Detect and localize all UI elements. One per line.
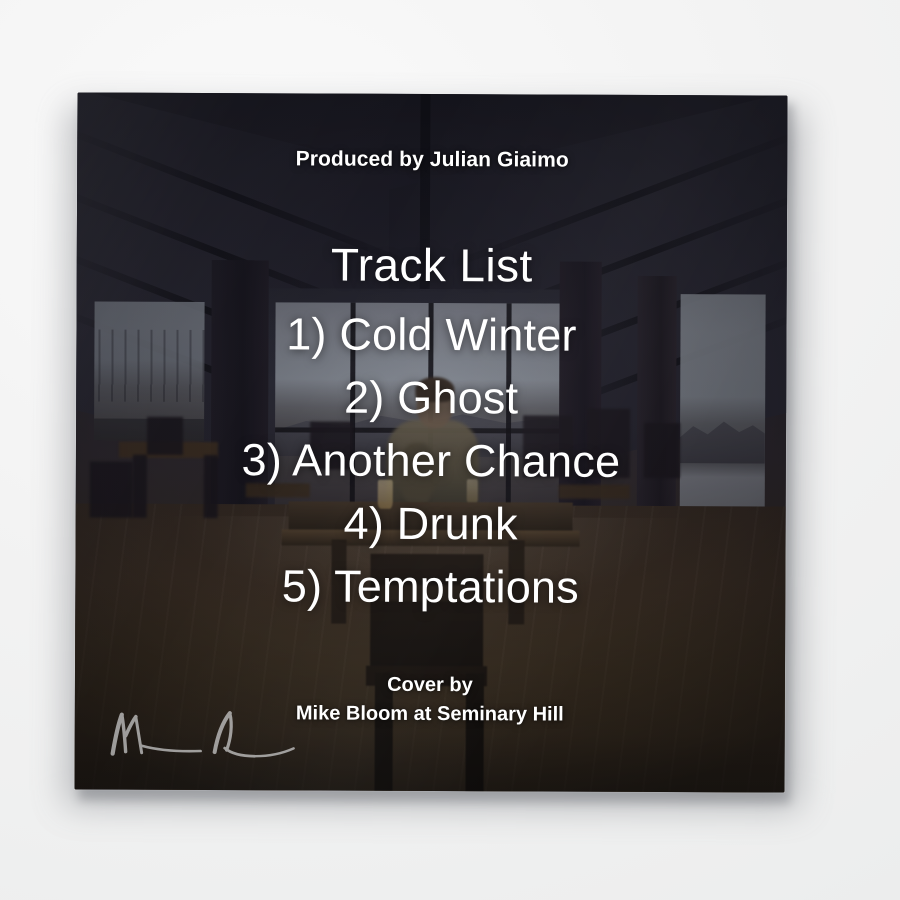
screenshot-stage: Produced by Julian Giaimo Track List 1) … <box>0 0 900 900</box>
track-list-item-2: 2) Ghost <box>76 364 786 430</box>
track-list-item-5: 5) Temptations <box>75 553 785 619</box>
cover-text-overlay: Produced by Julian Giaimo Track List 1) … <box>74 92 787 792</box>
album-sleeve[interactable]: Produced by Julian Giaimo Track List 1) … <box>74 92 787 792</box>
track-list-block: Track List 1) Cold Winter 2) Ghost 3) An… <box>75 240 787 619</box>
track-list-item-1: 1) Cold Winter <box>76 301 786 367</box>
track-list-item-3: 3) Another Chance <box>76 427 786 493</box>
track-list-heading: Track List <box>77 240 787 289</box>
album-back-cover[interactable]: Produced by Julian Giaimo Track List 1) … <box>74 92 787 792</box>
handwritten-signature <box>97 696 312 773</box>
track-list-item-4: 4) Drunk <box>76 490 786 556</box>
produced-by-credit: Produced by Julian Giaimo <box>77 146 787 173</box>
